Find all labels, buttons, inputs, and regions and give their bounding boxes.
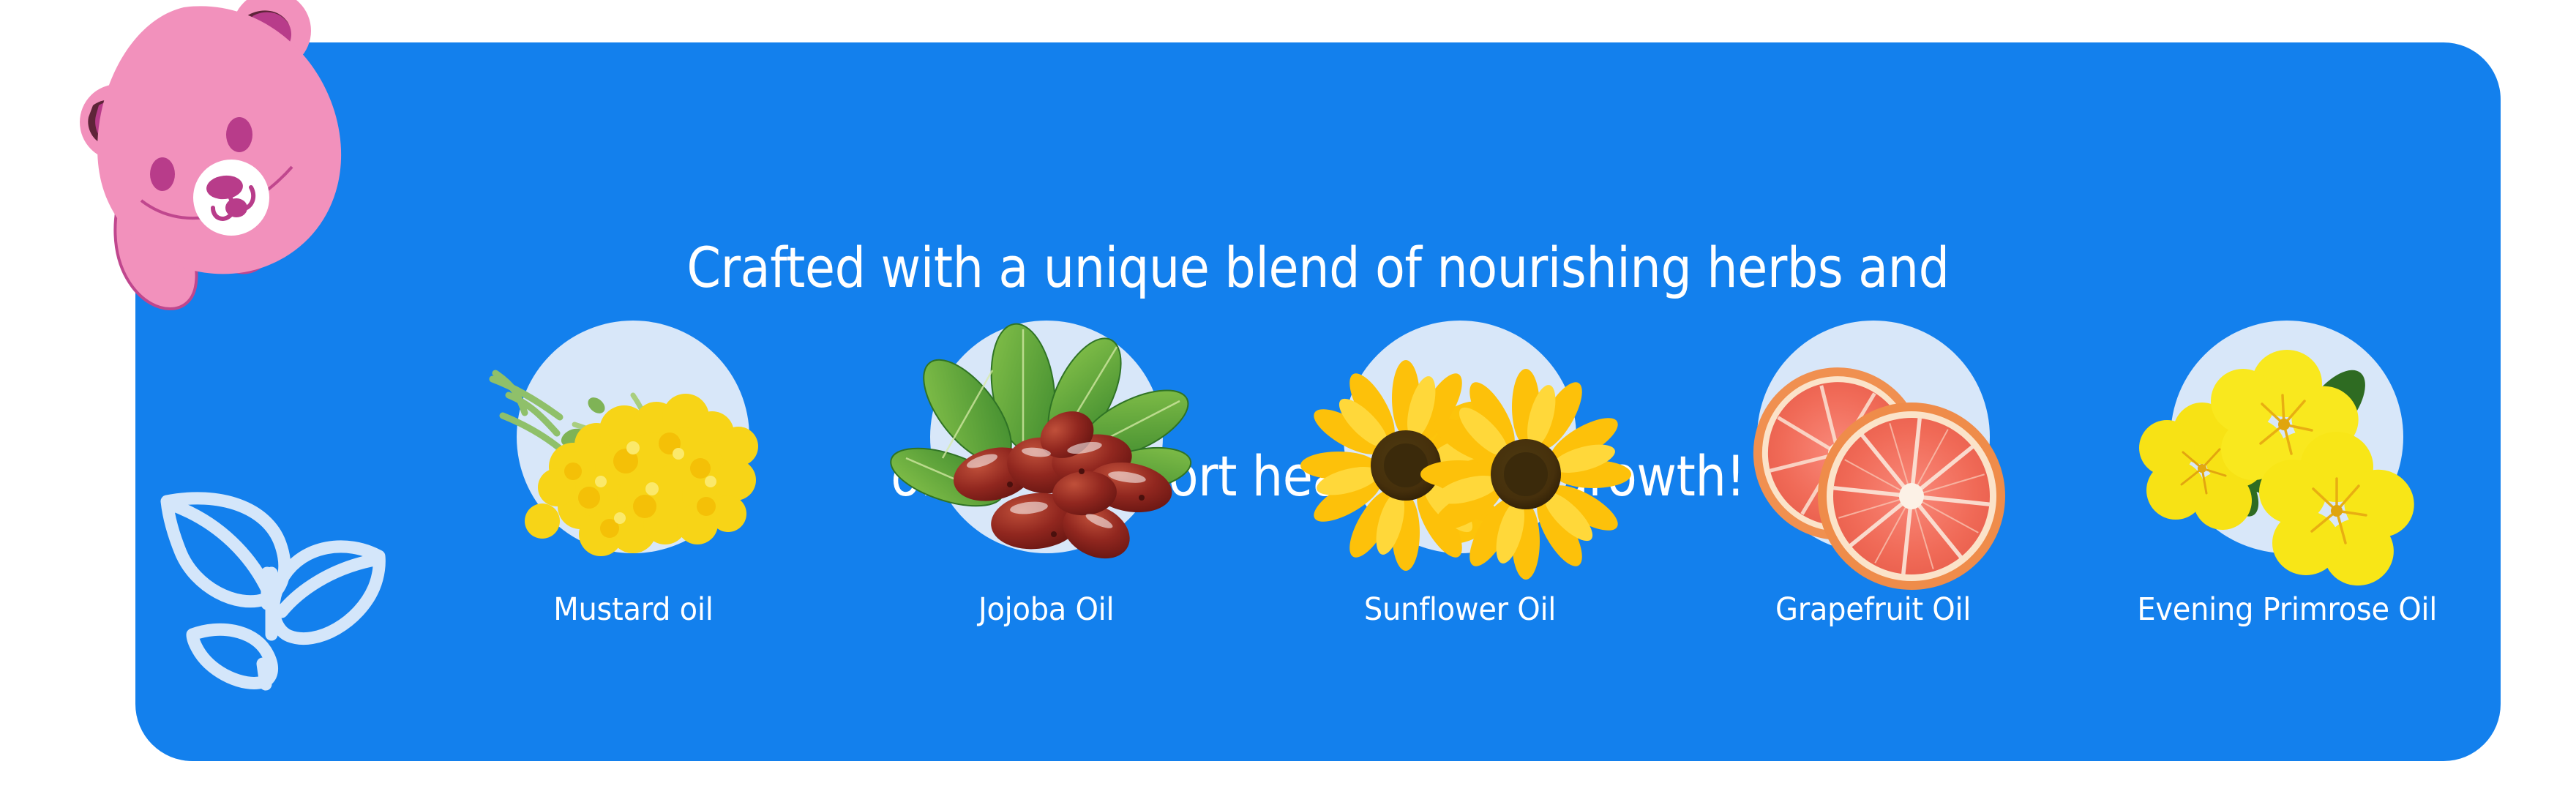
headline-line-1: Crafted with a unique blend of nourishin… xyxy=(277,233,2359,302)
ingredients-banner: Crafted with a unique blend of nourishin… xyxy=(0,0,2576,805)
leaf-emblem-icon xyxy=(150,465,392,706)
ingredient-circle xyxy=(900,315,1193,607)
ingredient-label: Mustard oil xyxy=(553,591,713,628)
grapefruit-halves-image xyxy=(1727,315,2020,607)
ingredient-item-jojoba-oil[interactable]: Jojoba Oil xyxy=(853,315,1240,681)
ingredient-label: Evening Primrose Oil xyxy=(2137,591,2437,628)
sunflower-image xyxy=(1314,315,1606,607)
ingredient-item-sunflower-oil[interactable]: Sunflower Oil xyxy=(1266,315,1654,681)
primrose-flower-image xyxy=(2141,315,2433,607)
ingredient-circle xyxy=(2141,315,2433,607)
ingredient-item-mustard-oil[interactable]: Mustard oil xyxy=(439,315,827,681)
ingredient-list: Mustard oil xyxy=(439,315,2481,681)
ingredient-circle xyxy=(1727,315,2020,607)
mustard-flower-image xyxy=(487,315,779,607)
teddy-bear-mascot xyxy=(40,0,355,360)
ingredient-label: Sunflower Oil xyxy=(1364,591,1556,628)
ingredient-label: Grapefruit Oil xyxy=(1775,591,1971,628)
ingredient-circle xyxy=(487,315,779,607)
ingredient-item-grapefruit-oil[interactable]: Grapefruit Oil xyxy=(1680,315,2067,681)
ingredient-label: Jojoba Oil xyxy=(978,591,1114,628)
jojoba-seeds-image xyxy=(900,315,1193,607)
ingredient-circle xyxy=(1314,315,1606,607)
ingredient-item-evening-primrose-oil[interactable]: Evening Primrose Oil xyxy=(2093,315,2481,681)
